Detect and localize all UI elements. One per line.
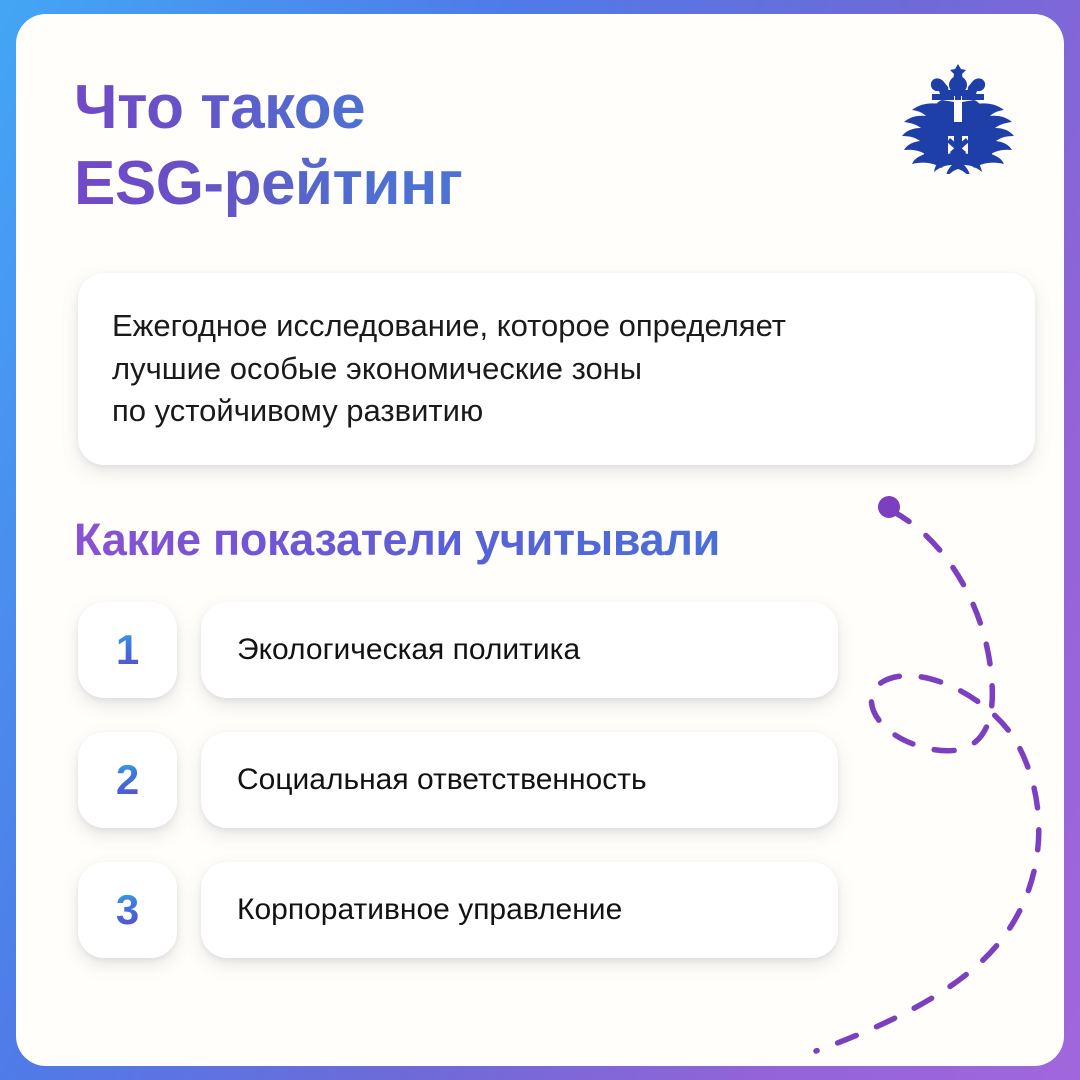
indicator-number: 1 bbox=[116, 626, 139, 674]
indicators-heading: Какие показатели учитывали bbox=[74, 514, 720, 566]
indicator-number: 3 bbox=[116, 886, 139, 934]
indicator-label-card: Экологическая политика bbox=[201, 602, 838, 698]
page-title: Что такое ESG-рейтинг bbox=[74, 70, 462, 221]
indicators-list: 1 Экологическая политика 2 Социальная от… bbox=[78, 602, 838, 958]
description-text: Ежегодное исследование, которое определя… bbox=[112, 305, 786, 433]
description-card: Ежегодное исследование, которое определя… bbox=[78, 273, 1035, 465]
indicator-number-badge: 2 bbox=[78, 732, 177, 828]
indicator-label-card: Социальная ответственность bbox=[201, 732, 838, 828]
indicator-label: Социальная ответственность bbox=[237, 762, 647, 798]
list-item: 3 Корпоративное управление bbox=[78, 862, 838, 958]
indicator-number: 2 bbox=[116, 756, 139, 804]
indicator-label-card: Корпоративное управление bbox=[201, 862, 838, 958]
purple-dot bbox=[878, 496, 900, 518]
list-item: 2 Социальная ответственность bbox=[78, 732, 838, 828]
list-item: 1 Экологическая политика bbox=[78, 602, 838, 698]
indicator-label: Экологическая политика bbox=[237, 632, 580, 668]
indicator-number-badge: 1 bbox=[78, 602, 177, 698]
indicator-number-badge: 3 bbox=[78, 862, 177, 958]
content-panel: Что такое ESG-рейтинг Ежегодное исследов… bbox=[16, 14, 1064, 1066]
russian-double-headed-eagle-emblem bbox=[902, 60, 1014, 174]
indicator-label: Корпоративное управление bbox=[237, 892, 622, 928]
